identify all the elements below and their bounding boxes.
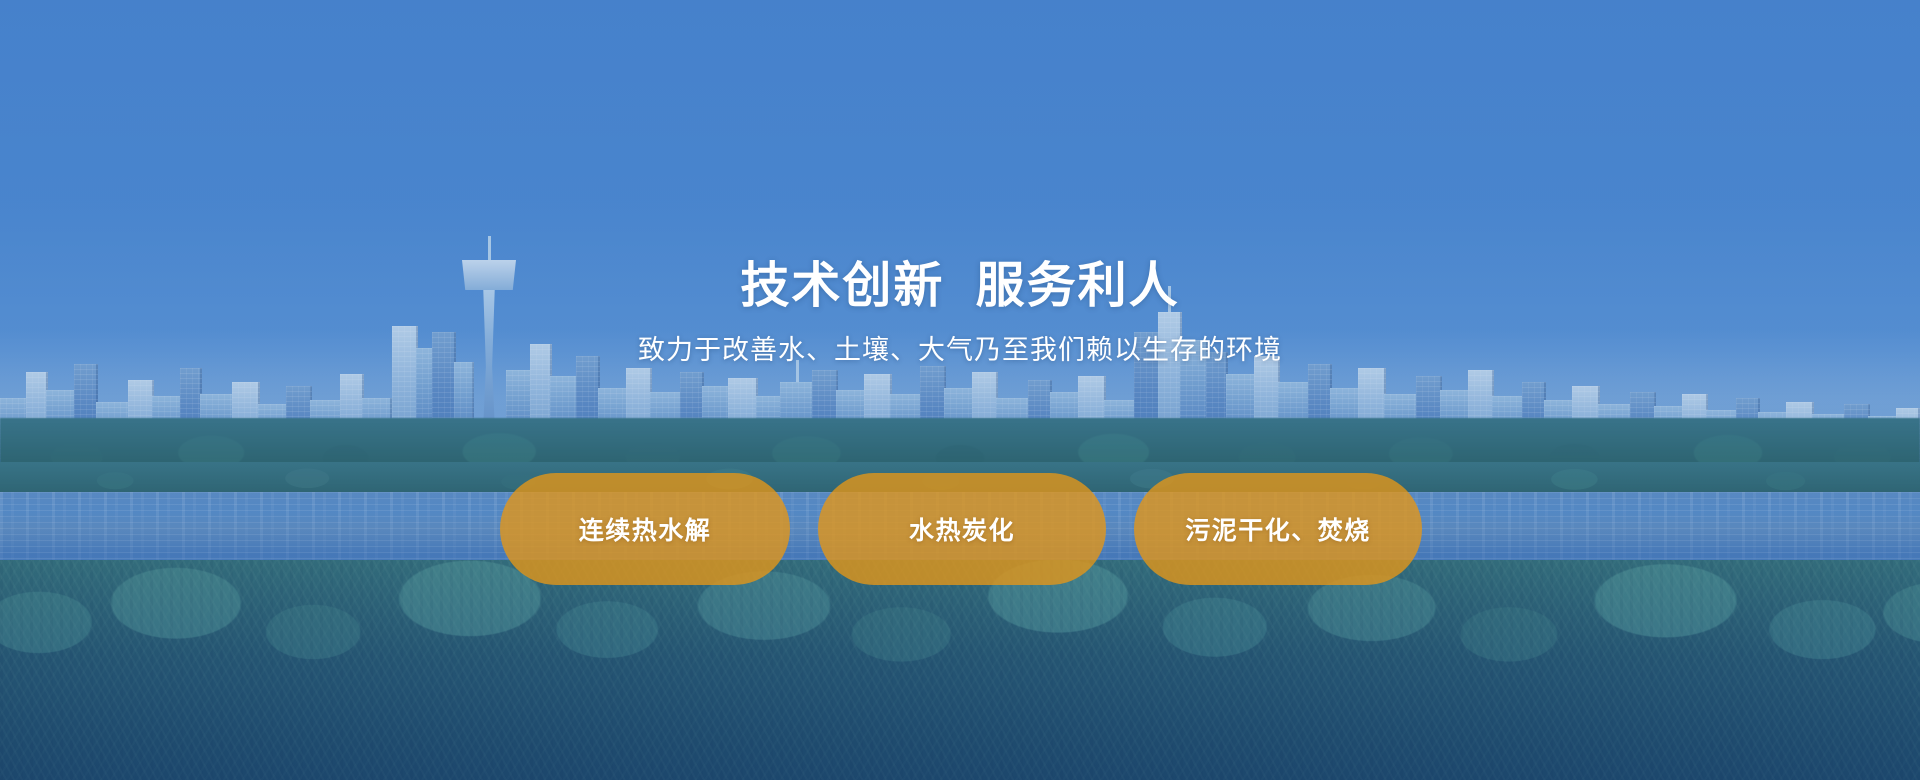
service-button-label: 污泥干化、焚烧 xyxy=(1185,511,1371,547)
hero-content: 技术创新 服务利人 致力于改善水、土壤、大气乃至我们赖以生存的环境 xyxy=(0,0,1920,780)
service-button-label: 连续热水解 xyxy=(579,511,712,547)
service-button-row: 连续热水解 水热炭化 污泥干化、焚烧 xyxy=(500,473,1422,585)
service-button-hydrothermal-carbonization[interactable]: 水热炭化 xyxy=(818,473,1106,585)
service-button-label: 水热炭化 xyxy=(909,511,1015,547)
service-button-sludge-drying-incineration[interactable]: 污泥干化、焚烧 xyxy=(1134,473,1422,585)
hero-banner: 技术创新 服务利人 致力于改善水、土壤、大气乃至我们赖以生存的环境 连续热水解 … xyxy=(0,0,1920,780)
hero-headline: 技术创新 服务利人 xyxy=(740,262,1179,311)
service-button-continuous-thermal-hydrolysis[interactable]: 连续热水解 xyxy=(500,473,790,585)
hero-subheadline: 致力于改善水、土壤、大气乃至我们赖以生存的环境 xyxy=(638,337,1282,364)
